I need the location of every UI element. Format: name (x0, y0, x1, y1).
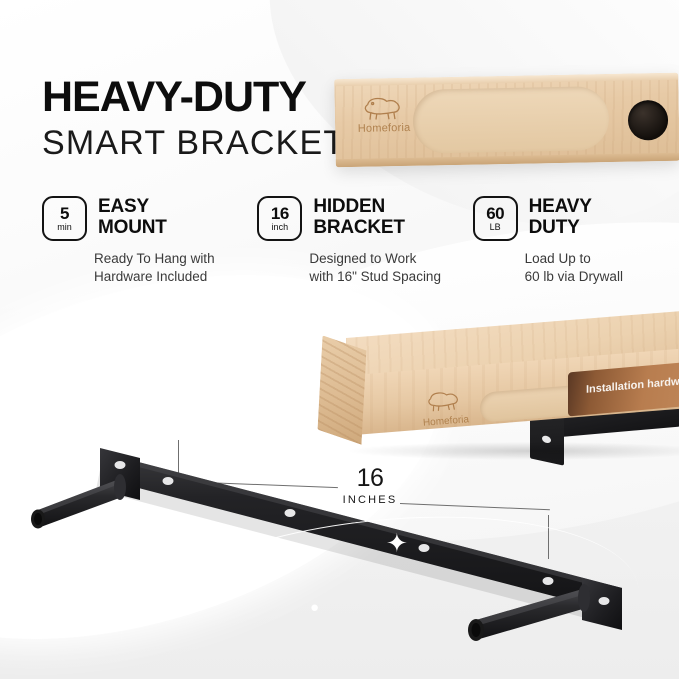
feature-title-line1: HEAVY (529, 196, 592, 217)
brand-logo-top: Homeforia (353, 95, 416, 135)
infographic-canvas: HEAVY-DUTY SMART BRACKET Homeforia Insta… (0, 0, 679, 679)
feature-desc-line2: 60 lb via Drywall (525, 268, 662, 286)
headline-secondary: SMART BRACKET (42, 123, 345, 164)
feature-hidden-bracket: 16 inch HIDDEN BRACKET Designed to Work … (257, 196, 446, 286)
badge-chip-5min: 5 min (42, 196, 87, 241)
feature-title-line1: EASY (98, 196, 167, 217)
badge-chip-60lb: 60 LB (473, 196, 518, 241)
feature-desc-line1: Load Up to (525, 250, 662, 268)
feature-badge-row: 5 min EASY MOUNT Ready To Hang with Hard… (42, 196, 662, 286)
feature-title-easy-mount: EASY MOUNT (98, 196, 167, 239)
chip-unit: LB (490, 223, 501, 232)
main-product-photo: Installation hardware Homeforia (320, 338, 679, 468)
chip-unit: inch (272, 223, 289, 232)
brand-logo-main: Homeforia (411, 387, 480, 429)
feature-easy-mount: 5 min EASY MOUNT Ready To Hang with Hard… (42, 196, 231, 286)
feature-heavy-duty: 60 LB HEAVY DUTY Load Up to 60 lb via Dr… (473, 196, 662, 286)
hardware-bag-label-main: Installation hardware (586, 374, 679, 396)
top-product-photo: Homeforia Installa (334, 73, 679, 168)
feature-desc-line1: Ready To Hang with (94, 250, 231, 268)
badge-chip-16inch: 16 inch (257, 196, 302, 241)
feature-description-easy-mount: Ready To Hang with Hardware Included (94, 250, 231, 286)
feature-desc-line1: Designed to Work (309, 250, 446, 268)
chip-unit: min (57, 223, 72, 232)
feature-desc-line2: Hardware Included (94, 268, 231, 286)
feature-title-line2: DUTY (529, 217, 592, 238)
feature-title-line2: MOUNT (98, 217, 167, 238)
brand-name-top: Homeforia (353, 122, 415, 135)
headline-primary: HEAVY-DUTY (42, 76, 345, 120)
headline-block: HEAVY-DUTY SMART BRACKET (42, 76, 345, 164)
feature-description-heavy-duty: Load Up to 60 lb via Drywall (525, 250, 662, 286)
dimension-tick-right (548, 515, 549, 559)
feature-title-line1: HIDDEN (313, 196, 405, 217)
dimension-value: 16 (330, 466, 410, 491)
chip-number: 5 (60, 205, 69, 222)
feature-title-hidden-bracket: HIDDEN BRACKET (313, 196, 405, 239)
dimension-unit: INCHES (330, 494, 410, 506)
shelf-end-grain (317, 335, 366, 444)
chip-number: 16 (271, 205, 289, 222)
feature-title-line2: BRACKET (313, 217, 405, 238)
shelf-drop-shadow (350, 442, 679, 460)
wood-strip-groove (412, 86, 609, 154)
bison-icon (424, 388, 466, 413)
chip-number: 60 (486, 205, 504, 222)
dimension-label: 16 INCHES (330, 466, 410, 506)
feature-description-hidden-bracket: Designed to Work with 16" Stud Spacing (309, 250, 446, 286)
dimension-tick-left (178, 440, 179, 482)
bison-icon (361, 95, 407, 122)
feature-title-heavy-duty: HEAVY DUTY (529, 196, 592, 239)
feature-desc-line2: with 16" Stud Spacing (309, 268, 446, 286)
